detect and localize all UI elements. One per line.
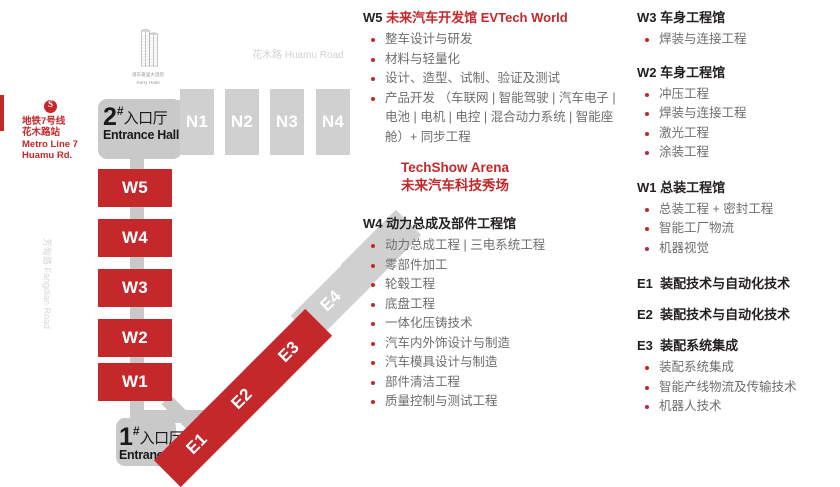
section-e3-title: E3 装配系统集成 xyxy=(637,337,840,354)
hall-w3[interactable]: W3 xyxy=(98,269,172,307)
hotel-name-cn: 浦东嘉里大酒店 xyxy=(131,72,165,78)
hall-n4-label: N4 xyxy=(322,112,344,132)
list-item: 零部件加工 xyxy=(363,256,631,276)
list-item: 装配系统集成 xyxy=(637,358,840,378)
hall-w2-label: W2 xyxy=(122,328,148,348)
arena-name-en: TechShow Arena xyxy=(401,159,631,177)
list-item: 部件清洁工程 xyxy=(363,373,631,393)
section-e2-title: E2 装配技术与自动化技术 xyxy=(637,306,840,323)
list-item: 冲压工程 xyxy=(637,85,840,105)
section-w5-name-cn: 未来汽车开发馆 xyxy=(386,10,477,25)
venue-map: 地铁7号线 花木路站 Metro Line 7 Huamu Rd. xyxy=(0,0,360,482)
section-e2-code: E2 xyxy=(637,307,653,322)
section-e1-code: E1 xyxy=(637,276,653,291)
middle-text-column: W5 未来汽车开发馆 EVTech World 整车设计与研发 材料与轻量化 设… xyxy=(363,0,631,412)
section-w5-items: 整车设计与研发 材料与轻量化 设计、造型、试制、验证及测试 产品开发 （车联网 … xyxy=(363,30,631,147)
section-e1: E1 装配技术与自动化技术 xyxy=(637,275,840,292)
entrance-1-number: 1 xyxy=(119,423,133,451)
hall-n2-label: N2 xyxy=(231,112,253,132)
section-w3: W3 车身工程馆 焊装与连接工程 xyxy=(637,9,840,50)
hall-w5-label: W5 xyxy=(122,178,148,198)
section-e3-name-cn: 装配系统集成 xyxy=(660,338,738,353)
list-item: 产品开发 （车联网 | 智能驾驶 | 汽车电子 | 电池 | 电机 | 电控 |… xyxy=(363,89,631,148)
section-w1-name-cn: 总装工程馆 xyxy=(660,180,725,195)
list-item: 一体化压铸技术 xyxy=(363,314,631,334)
metro-station-en: Huamu Rd. xyxy=(22,150,102,161)
hotel-building-icon xyxy=(137,28,163,70)
section-w3-title: W3 车身工程馆 xyxy=(637,9,840,26)
section-w2: W2 车身工程馆 冲压工程 焊装与连接工程 激光工程 涂装工程 xyxy=(637,64,840,163)
section-w3-name-cn: 车身工程馆 xyxy=(660,10,725,25)
section-e3-code: E3 xyxy=(637,338,653,353)
entrance-2-hash: # xyxy=(117,104,124,118)
list-item: 机器视觉 xyxy=(637,239,840,259)
section-w2-name-cn: 车身工程馆 xyxy=(660,65,725,80)
metro-line-cn: 地铁7号线 xyxy=(22,116,102,127)
list-item: 设计、造型、试制、验证及测试 xyxy=(363,69,631,89)
hotel-name-en: Kerry Hotel xyxy=(131,80,165,86)
list-item: 智能工厂物流 xyxy=(637,219,840,239)
list-item: 材料与轻量化 xyxy=(363,50,631,70)
hall-w2[interactable]: W2 xyxy=(98,319,172,357)
section-e2-name-cn: 装配技术与自动化技术 xyxy=(660,307,790,322)
hall-w1-label: W1 xyxy=(122,372,148,392)
hall-e2-label: E2 xyxy=(227,384,256,413)
section-w5: W5 未来汽车开发馆 EVTech World 整车设计与研发 材料与轻量化 设… xyxy=(363,9,631,147)
section-w4-code: W4 xyxy=(363,216,383,231)
section-w3-code: W3 xyxy=(637,10,657,25)
list-item: 焊装与连接工程 xyxy=(637,30,840,50)
section-w2-code: W2 xyxy=(637,65,657,80)
hall-n3-label: N3 xyxy=(276,112,298,132)
road-label-huamu: 花木路 Huamu Road xyxy=(252,46,344,61)
entrance-2-cn: 入口厅 xyxy=(124,110,168,127)
list-item: 激光工程 xyxy=(637,124,840,144)
section-w5-code: W5 xyxy=(363,10,383,25)
section-e1-title: E1 装配技术与自动化技术 xyxy=(637,275,840,292)
section-w4-items: 动力总成工程 | 三电系统工程 零部件加工 轮毂工程 底盘工程 一体化压铸技术 … xyxy=(363,236,631,412)
techshow-arena-block: TechShow Arena 未来汽车科技秀场 xyxy=(363,159,631,194)
list-item: 汽车模具设计与制造 xyxy=(363,353,631,373)
hall-w1[interactable]: W1 xyxy=(98,363,172,401)
list-item: 机器人技术 xyxy=(637,397,840,417)
hall-w4[interactable]: W4 xyxy=(98,219,172,257)
hall-e3-label: E3 xyxy=(274,337,303,366)
list-item: 汽车内外饰设计与制造 xyxy=(363,334,631,354)
section-w1-title: W1 总装工程馆 xyxy=(637,179,840,196)
hall-e1-label: E1 xyxy=(182,429,211,458)
hall-e4-label: E4 xyxy=(316,286,345,315)
hall-w4-label: W4 xyxy=(122,228,148,248)
hall-n4[interactable]: N4 xyxy=(316,89,350,155)
list-item: 总装工程 + 密封工程 xyxy=(637,200,840,220)
section-w5-name-en: EVTech World xyxy=(481,10,568,25)
section-w1-items: 总装工程 + 密封工程 智能工厂物流 机器视觉 xyxy=(637,200,840,259)
section-w1-code: W1 xyxy=(637,180,657,195)
section-w4: W4 动力总成及部件工程馆 动力总成工程 | 三电系统工程 零部件加工 轮毂工程… xyxy=(363,215,631,412)
section-e2: E2 装配技术与自动化技术 xyxy=(637,306,840,323)
hall-n1[interactable]: N1 xyxy=(180,89,214,155)
section-e1-name-cn: 装配技术与自动化技术 xyxy=(660,276,790,291)
list-item: 轮毂工程 xyxy=(363,275,631,295)
metro-station-cn: 花木路站 xyxy=(22,127,102,138)
list-item: 涂装工程 xyxy=(637,143,840,163)
list-item: 焊装与连接工程 xyxy=(637,104,840,124)
road-label-fangdian: 芳甸路 Fangdian Road xyxy=(41,238,54,329)
list-item: 质量控制与测试工程 xyxy=(363,392,631,412)
exhibition-floorplan-page: 地铁7号线 花木路站 Metro Line 7 Huamu Rd. xyxy=(0,0,840,482)
arena-name-cn: 未来汽车科技秀场 xyxy=(401,177,631,195)
hall-w3-label: W3 xyxy=(122,278,148,298)
kerry-hotel-marker: 浦东嘉里大酒店 Kerry Hotel xyxy=(133,28,167,85)
section-e3: E3 装配系统集成 装配系统集成 智能产线物流及传输技术 机器人技术 xyxy=(637,337,840,417)
hall-n3[interactable]: N3 xyxy=(270,89,304,155)
list-item: 整车设计与研发 xyxy=(363,30,631,50)
entrance-hall-2-label: 2#入口厅 Entrance Hall xyxy=(103,104,179,142)
entrance-1-hash: # xyxy=(133,424,140,438)
list-item: 动力总成工程 | 三电系统工程 xyxy=(363,236,631,256)
hall-w5[interactable]: W5 xyxy=(98,169,172,207)
section-w1: W1 总装工程馆 总装工程 + 密封工程 智能工厂物流 机器视觉 xyxy=(637,179,840,259)
list-item: 智能产线物流及传输技术 xyxy=(637,378,840,398)
section-w3-items: 焊装与连接工程 xyxy=(637,30,840,50)
hall-n2[interactable]: N2 xyxy=(225,89,259,155)
list-item: 底盘工程 xyxy=(363,295,631,315)
metro-station-label: 地铁7号线 花木路站 Metro Line 7 Huamu Rd. xyxy=(22,100,102,162)
metro-logo-icon xyxy=(44,100,57,113)
right-text-column: W3 车身工程馆 焊装与连接工程 W2 车身工程馆 冲压工程 焊装与连接工程 激… xyxy=(637,0,840,417)
hall-n1-label: N1 xyxy=(186,112,208,132)
metro-line-en: Metro Line 7 xyxy=(22,139,102,150)
section-w4-title: W4 动力总成及部件工程馆 xyxy=(363,215,631,232)
section-w2-items: 冲压工程 焊装与连接工程 激光工程 涂装工程 xyxy=(637,85,840,163)
section-w2-title: W2 车身工程馆 xyxy=(637,64,840,81)
entrance-2-number: 2 xyxy=(103,103,117,131)
map-left-red-bar xyxy=(0,95,4,131)
entrance-2-en: Entrance Hall xyxy=(103,128,179,142)
section-w4-name-cn: 动力总成及部件工程馆 xyxy=(386,216,516,231)
section-e3-items: 装配系统集成 智能产线物流及传输技术 机器人技术 xyxy=(637,358,840,417)
section-w5-title: W5 未来汽车开发馆 EVTech World xyxy=(363,9,631,26)
